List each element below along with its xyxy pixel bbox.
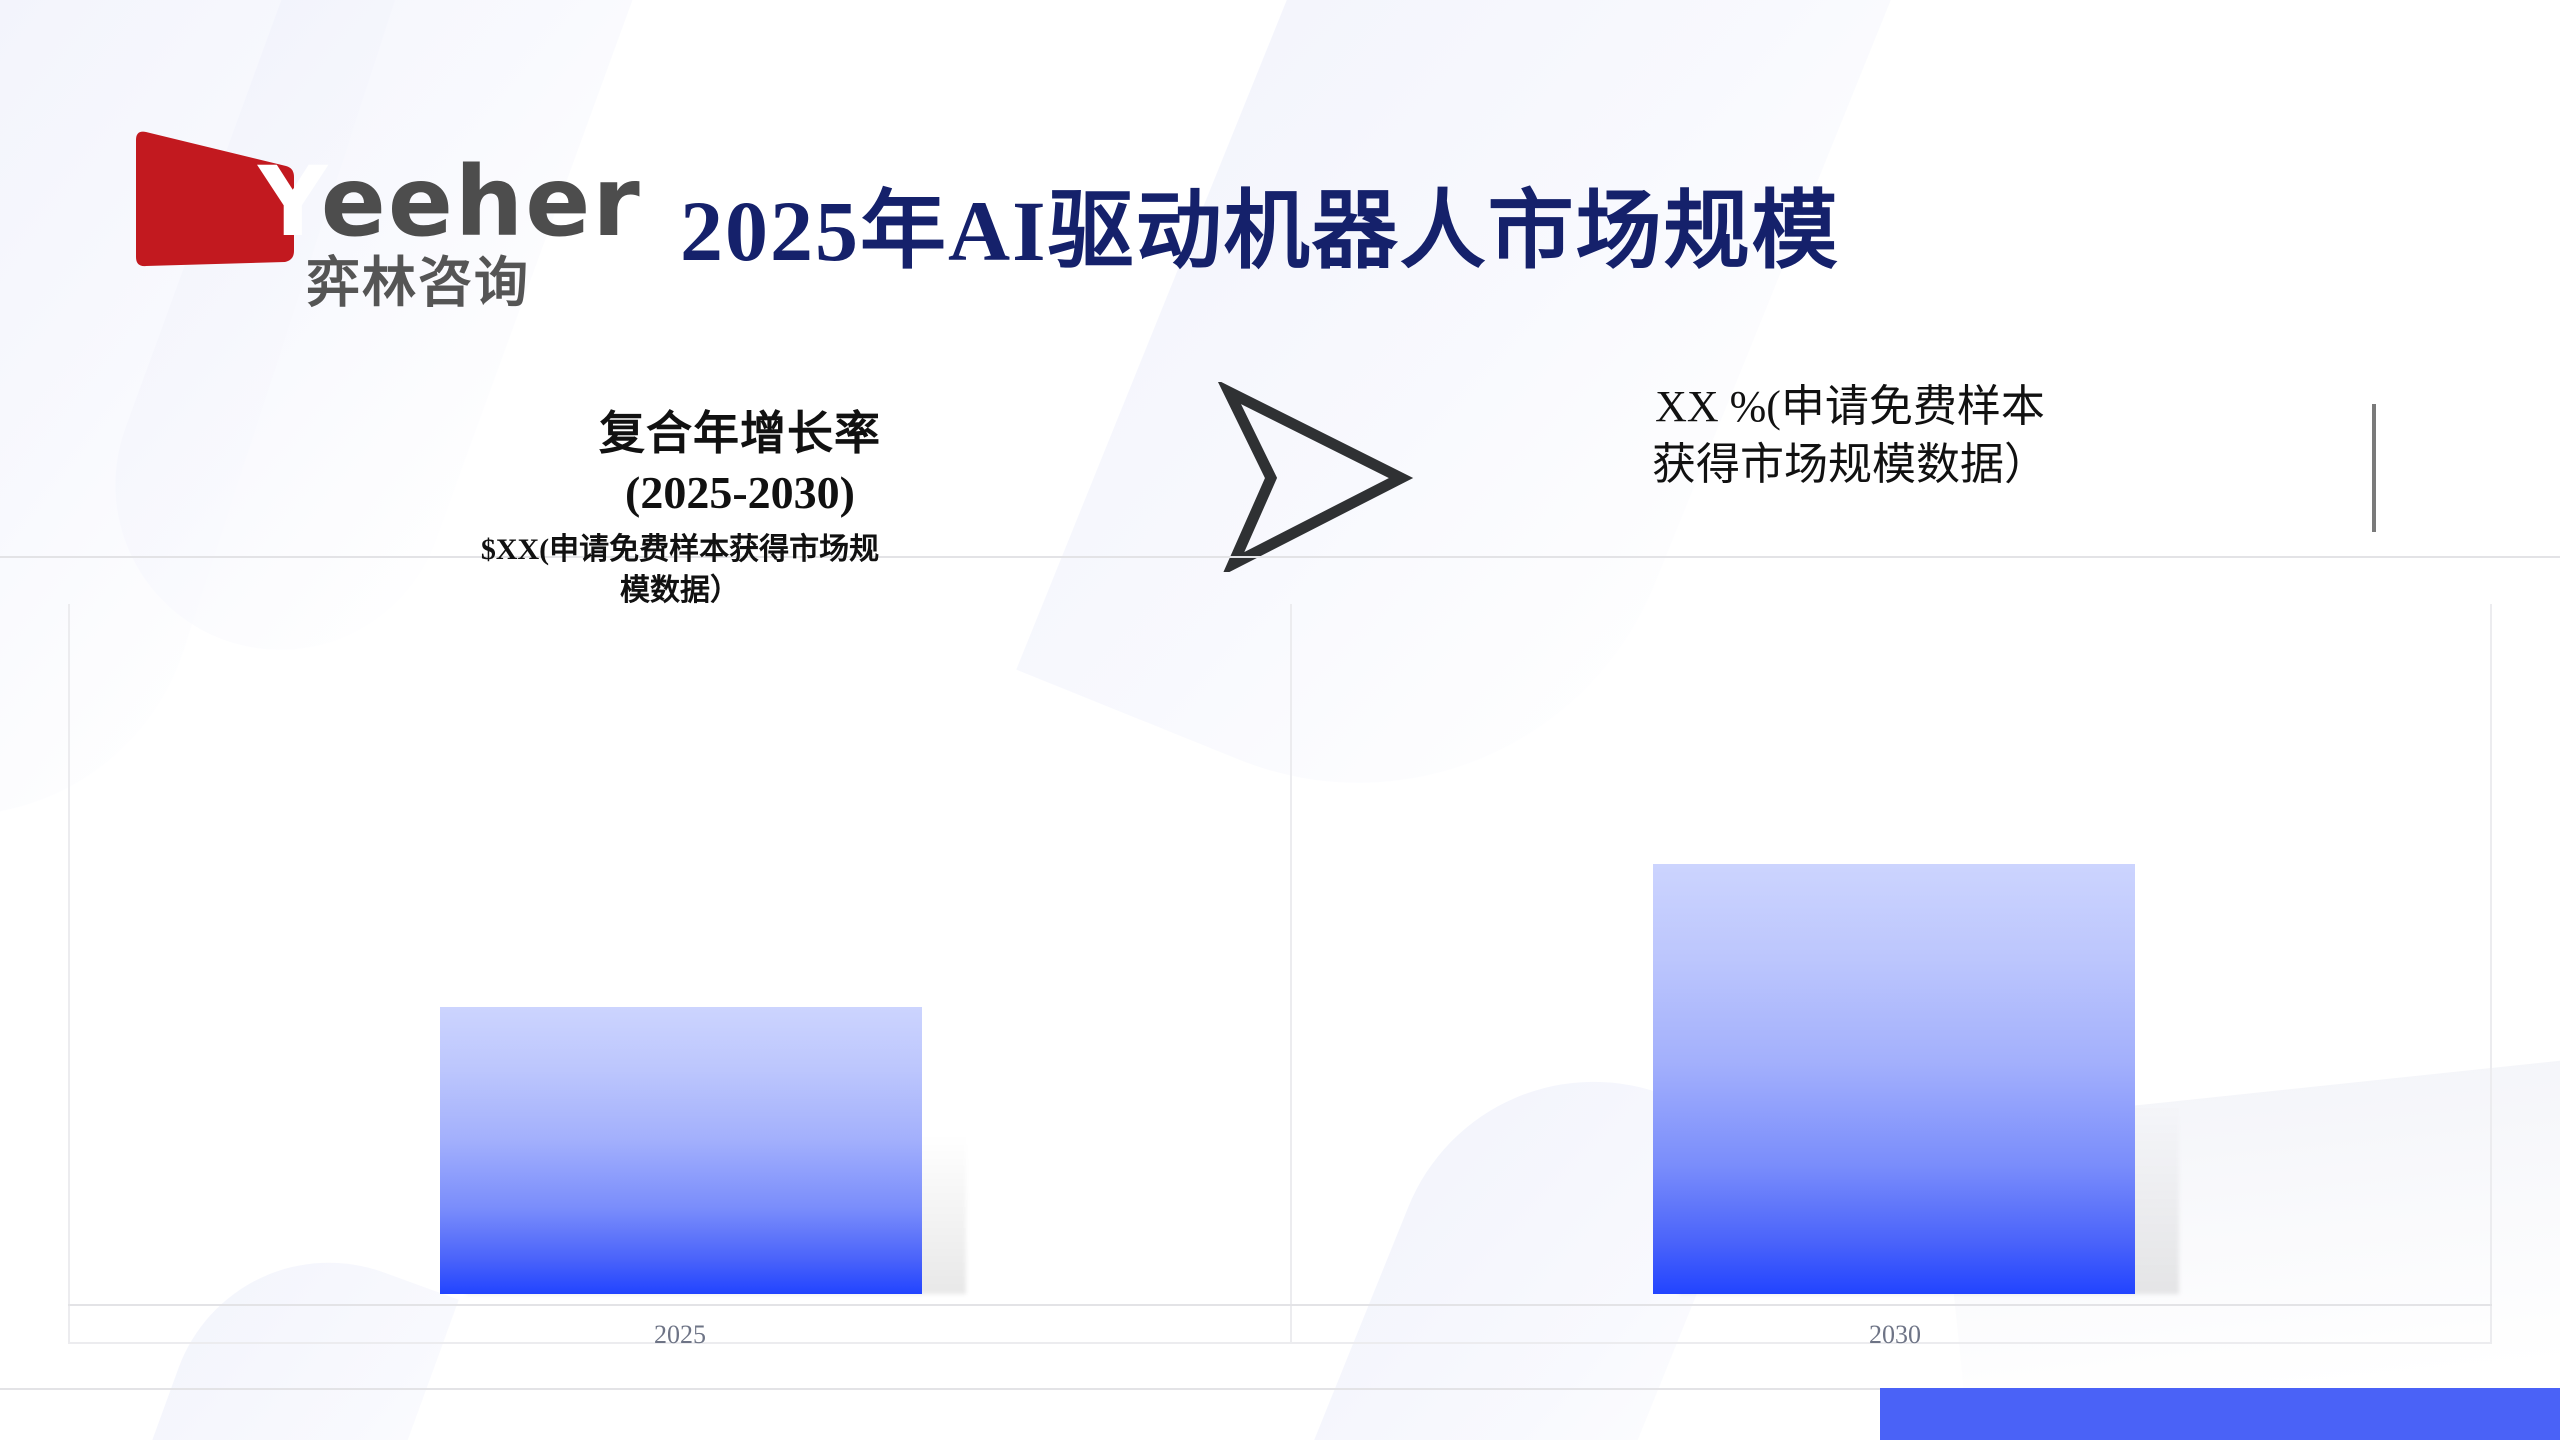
x-tick-2025: 2025 xyxy=(490,1320,870,1350)
x-tick-2030: 2030 xyxy=(1705,1320,2085,1350)
bar-slot-2025: $XX(申请免费样本获得市场规 模数据） xyxy=(440,642,940,1294)
brand-logo: Yeeher 弈林咨询 xyxy=(130,118,600,308)
cagr-label-line1: 复合年增长率 xyxy=(540,405,940,464)
bar-slot-2030 xyxy=(1653,642,2153,1294)
cagr-label-line2: (2025-2030) xyxy=(540,464,940,523)
logo-wordmark-initial: Y xyxy=(258,146,321,258)
right-arrow-icon xyxy=(1215,382,1415,572)
plot-center-divider xyxy=(1290,604,1292,1344)
chart-panel: $XX(申请免费样本获得市场规 模数据） 2025 2030 xyxy=(0,556,2560,1390)
bar-label-2025-line2: 模数据） xyxy=(430,571,930,612)
logo-wordmark: Yeeher xyxy=(258,154,642,250)
cagr-value-line2: 获得市场规模数据） xyxy=(1600,436,2100,494)
right-arrow-outline-icon xyxy=(1215,382,1415,572)
cagr-value-line1: XX %(申请免费样本 xyxy=(1600,378,2100,436)
plot-baseline xyxy=(68,1304,2492,1306)
bar-2025[interactable] xyxy=(440,1007,922,1294)
cagr-value-label: XX %(申请免费样本 获得市场规模数据） xyxy=(1600,378,2100,494)
bar-label-2025: $XX(申请免费样本获得市场规 模数据） xyxy=(430,530,930,611)
slide-canvas: Yeeher 弈林咨询 2025年AI驱动机器人市场规模 复合年增长率 (202… xyxy=(0,0,2560,1440)
bottom-accent-bar xyxy=(1880,1388,2560,1440)
logo-wordmark-rest: eeher xyxy=(321,146,642,258)
page-title: 2025年AI驱动机器人市场规模 xyxy=(680,160,1980,285)
logo-subtitle: 弈林咨询 xyxy=(306,256,530,310)
bar-2030[interactable] xyxy=(1653,864,2135,1294)
bar-label-2025-line1: $XX(申请免费样本获得市场规 xyxy=(430,530,930,571)
cagr-label: 复合年增长率 (2025-2030) xyxy=(540,405,940,523)
header-right-divider xyxy=(2372,404,2376,532)
